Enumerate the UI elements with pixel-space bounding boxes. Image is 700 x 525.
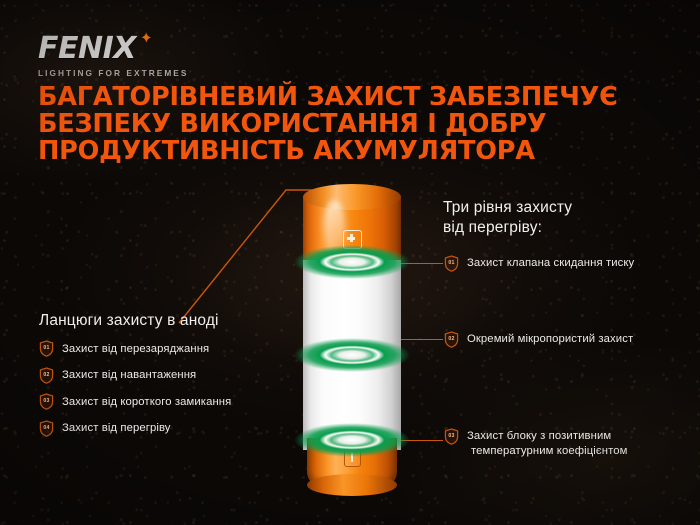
brand-tagline: LIGHTING FOR EXTREMES [38, 68, 218, 78]
shield-icon: 03 [39, 393, 54, 410]
list-item-label: Захист від навантаження [62, 368, 196, 382]
list-item-label: Захист від перезаряджання [62, 342, 209, 356]
list-item: 04 Захист від перегріву [39, 420, 329, 437]
headline-line-1: БАГАТОРІВНЕВИЙ ЗАХИСТ ЗАБЕЗПЕЧУЄ [38, 84, 663, 111]
list-item-label-line-2: температурним коефіцієнтом [467, 443, 628, 458]
headline-line-2: БЕЗПЕКУ ВИКОРИСТАННЯ І ДОБРУ [38, 111, 663, 138]
overheat-protection-title: Три рівня захисту від перегріву: [443, 198, 673, 237]
shield-icon: 01 [39, 340, 54, 357]
badge-number: 01 [39, 340, 54, 356]
anode-protection-list: Ланцюги захисту в аноді 01 Захист від пе… [39, 312, 329, 446]
badge-number: 02 [444, 331, 459, 347]
infographic-canvas: FENIX LIGHTING FOR EXTREMES БАГАТОРІВНЕВ… [0, 0, 700, 525]
list-item-label: Захист клапана скидання тиску [467, 255, 634, 270]
badge-number: 03 [444, 428, 459, 444]
brand-logo: FENIX LIGHTING FOR EXTREMES [38, 34, 218, 78]
shield-icon: 02 [444, 331, 459, 348]
list-item: 03 Захист блоку з позитивним температурн… [444, 428, 694, 458]
list-item-label: Окремий мікропористий захист [467, 331, 633, 346]
badge-number: 03 [39, 393, 54, 409]
badge-number: 04 [39, 420, 54, 436]
list-item: 02 Захист від навантаження [39, 367, 329, 384]
battery-bottom-ellipse [307, 474, 397, 496]
shield-icon: 03 [444, 428, 459, 445]
brand-wordmark: FENIX [38, 34, 218, 64]
list-item-label: Захист від перегріву [62, 421, 171, 435]
shield-icon: 01 [444, 255, 459, 272]
badge-number: 01 [444, 255, 459, 271]
list-item: 03 Захист від короткого замикання [39, 393, 329, 410]
list-item-label: Захист від короткого замикання [62, 395, 231, 409]
star-icon [136, 31, 154, 49]
overheat-title-line-1: Три рівня захисту [443, 198, 673, 218]
page-headline: БАГАТОРІВНЕВИЙ ЗАХИСТ ЗАБЕЗПЕЧУЄ БЕЗПЕКУ… [38, 84, 663, 165]
list-item: 02 Окремий мікропористий захист [444, 331, 694, 348]
list-item-label-multiline: Захист блоку з позитивним температурним … [467, 428, 628, 458]
list-item: 01 Захист клапана скидання тиску [444, 255, 694, 272]
list-item: 01 Захист від перезаряджання [39, 340, 329, 357]
shield-icon: 04 [39, 420, 54, 437]
battery-cap-ellipse [303, 184, 401, 210]
list-item-label-line-1: Захист блоку з позитивним [467, 428, 628, 443]
anode-list-title: Ланцюги захисту в аноді [39, 312, 329, 330]
headline-line-3: ПРОДУКТИВНІСТЬ АКУМУЛЯТОРА [38, 138, 663, 165]
shield-icon: 02 [39, 367, 54, 384]
overheat-title-line-2: від перегріву: [443, 218, 673, 238]
protection-halo-01 [291, 242, 413, 282]
badge-number: 02 [39, 367, 54, 383]
